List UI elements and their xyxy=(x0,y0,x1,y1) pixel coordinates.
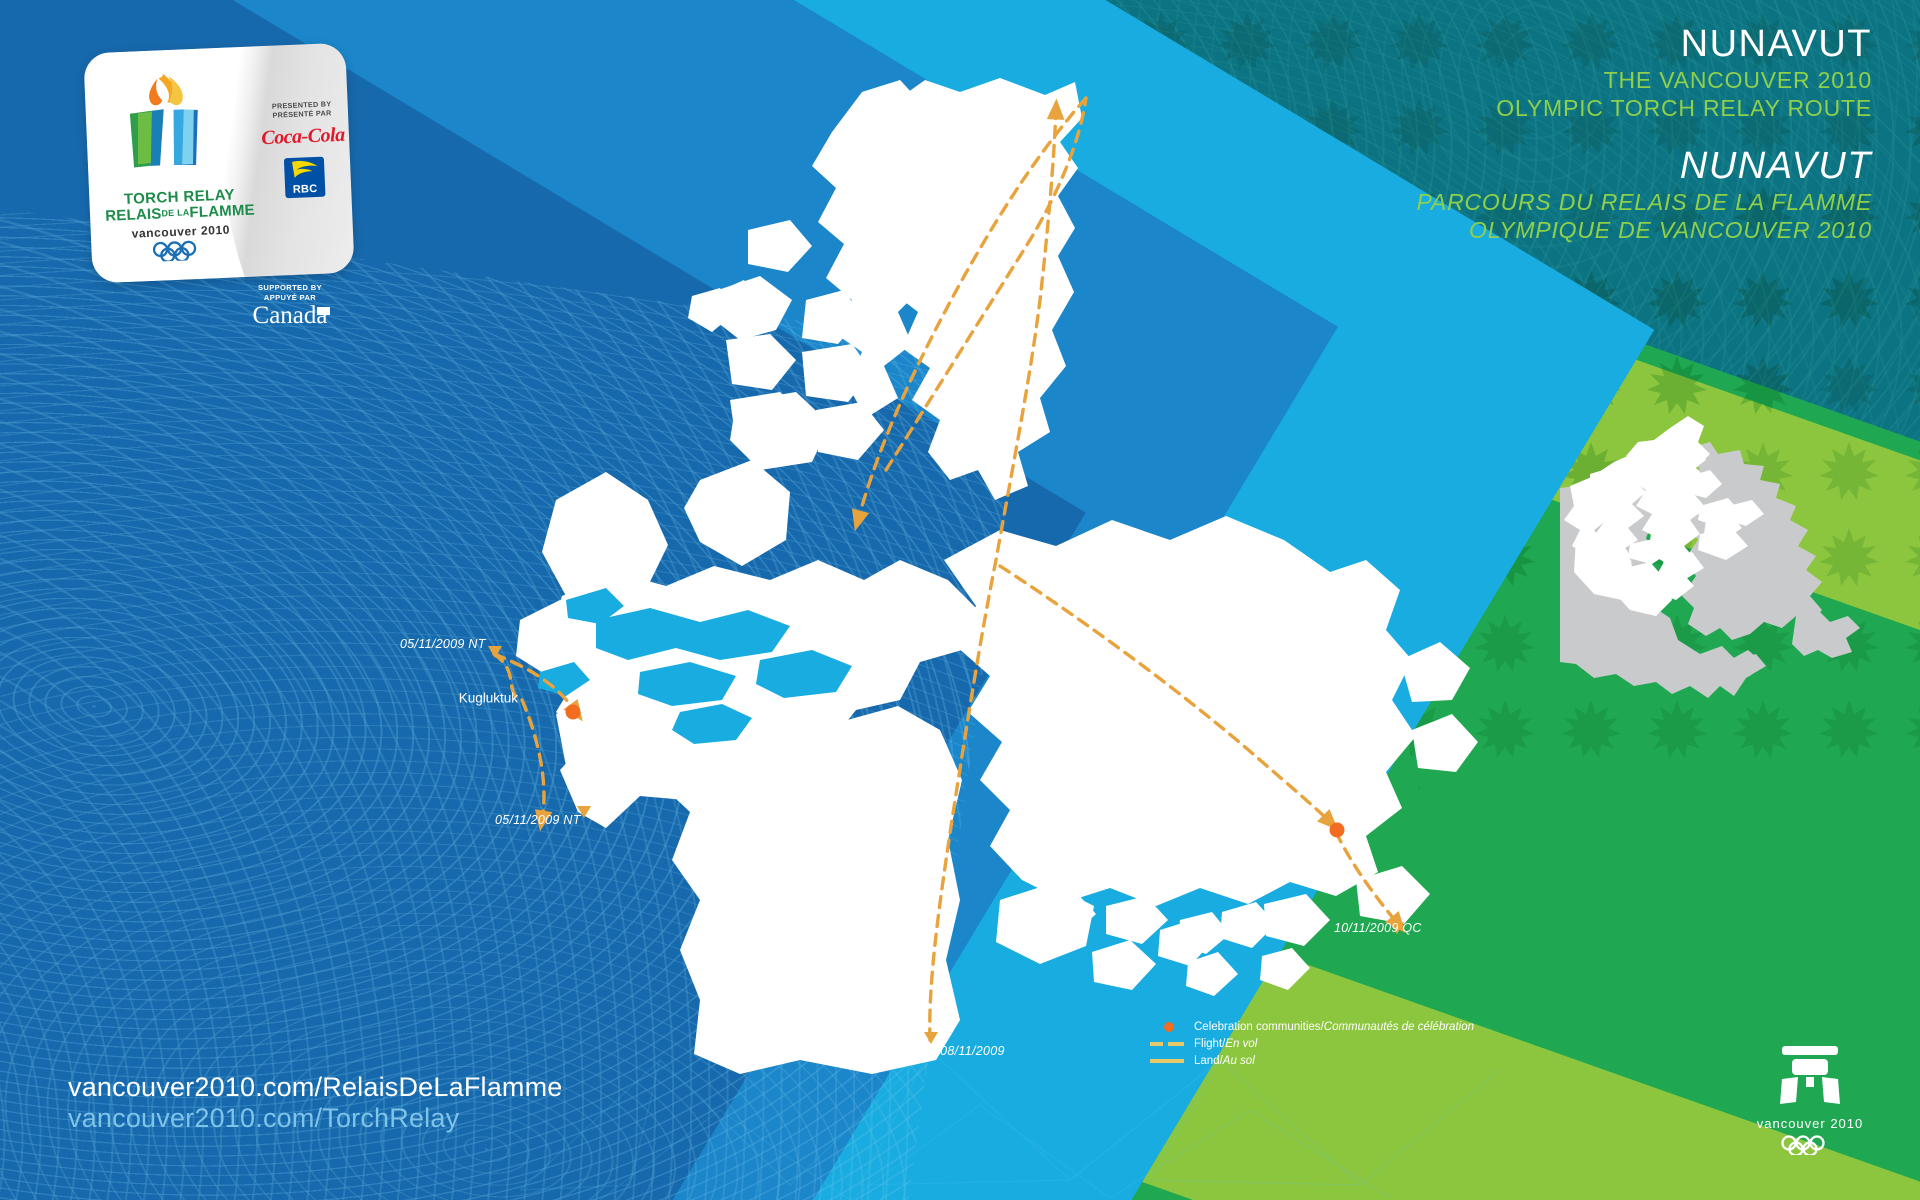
subtitle-en-line1: THE VANCOUVER 2010 xyxy=(1417,66,1873,94)
subtitle-en-line2: OLYMPIC TORCH RELAY ROUTE xyxy=(1417,94,1873,122)
city-label-kugluktuk: Kugluktuk xyxy=(459,691,518,706)
dashed-line-icon xyxy=(1150,1042,1184,1046)
torch-flame-icon xyxy=(110,68,227,193)
canada-text: Canada xyxy=(253,302,328,329)
legend-row-celebration: Celebration communities / Communautés de… xyxy=(1150,1018,1474,1035)
torch-relay-logo-card: TORCH RELAY RELAISDE LAFLAMME vancouver … xyxy=(83,43,354,284)
subtitle-fr-line1: PARCOURS DU RELAIS DE LA FLAMME xyxy=(1417,188,1873,216)
wordmark-dela: DE LA xyxy=(161,207,189,218)
celebration-dot-iqaluit xyxy=(1330,823,1345,838)
route-label-mb: MB 08/11/2009 xyxy=(917,1044,1005,1058)
route-label-nt-exit: 05/11/2009 NT xyxy=(495,813,581,827)
legend-label-land-fr: Au sol xyxy=(1223,1055,1255,1067)
footer-urls: vancouver2010.com/RelaisDeLaFlamme vanco… xyxy=(68,1072,563,1134)
legend-key-celebration xyxy=(1150,1022,1186,1032)
presenting-sponsor-block: PRESENTED BY PRÉSENTÉ PAR Coca-Cola RBC xyxy=(257,99,349,200)
wordmark-relais: RELAIS xyxy=(105,205,162,224)
celebration-dot-icon xyxy=(1164,1022,1174,1032)
games-mark-text: vancouver 2010 xyxy=(1750,1116,1870,1131)
legend-label-celebration-en: Celebration communities xyxy=(1194,1021,1321,1033)
inukshuk-icon xyxy=(1768,1046,1852,1108)
route-label-nt-entry: 05/11/2009 NT xyxy=(400,637,486,651)
map-legend: Celebration communities / Communautés de… xyxy=(1150,1018,1474,1069)
olympic-rings-footer-icon xyxy=(1779,1135,1841,1155)
north-arrow-icon xyxy=(566,512,600,564)
solid-line-icon xyxy=(1150,1059,1184,1063)
url-french[interactable]: vancouver2010.com/RelaisDeLaFlamme xyxy=(68,1072,563,1103)
supporting-sponsor-block: SUPPORTED BY APPUYÉ PAR Canada xyxy=(225,283,355,329)
wordmark-flamme: FLAMME xyxy=(189,202,255,222)
wordmark-games: vancouver 2010 xyxy=(101,221,261,242)
rbc-text: RBC xyxy=(285,183,325,197)
legend-label-celebration-fr: Communautés de célébration xyxy=(1324,1021,1474,1033)
celebration-dot-kugluktuk xyxy=(566,705,581,720)
supported-by-label-en: SUPPORTED BY xyxy=(225,283,355,293)
url-english[interactable]: vancouver2010.com/TorchRelay xyxy=(68,1103,563,1134)
page-title-fr: NUNAVUT xyxy=(1417,144,1873,188)
legend-key-flight xyxy=(1150,1042,1186,1046)
page-title-en: NUNAVUT xyxy=(1417,22,1873,66)
rbc-shield-icon xyxy=(284,157,325,185)
coca-cola-logo: Coca-Cola xyxy=(259,124,348,151)
legend-label-flight-fr: En vol xyxy=(1225,1038,1257,1050)
compass-north-indicator: N xyxy=(566,512,600,582)
rbc-logo: RBC xyxy=(284,157,326,199)
torch-relay-wordmark: TORCH RELAY RELAISDE LAFLAMME vancouver … xyxy=(99,186,262,269)
legend-key-land xyxy=(1150,1059,1186,1063)
canada-flag-icon xyxy=(317,307,330,315)
canada-inset-map xyxy=(1560,410,1920,710)
route-label-qc: 10/11/2009 QC xyxy=(1334,921,1422,935)
legend-label-land-en: Land xyxy=(1194,1055,1220,1067)
canada-wordmark: Canada xyxy=(253,303,328,329)
supported-by-label-fr: APPUYÉ PAR xyxy=(225,293,355,303)
city-label-iqaluit: Iqaluit xyxy=(1290,823,1326,838)
legend-row-flight: Flight / En vol xyxy=(1150,1035,1474,1052)
olympic-rings-icon xyxy=(150,239,213,262)
legend-label-flight-en: Flight xyxy=(1194,1038,1222,1050)
compass-north-letter: N xyxy=(566,560,600,584)
subtitle-fr-line2: OLYMPIQUE DE VANCOUVER 2010 xyxy=(1417,216,1873,244)
legend-row-land: Land / Au sol xyxy=(1150,1052,1474,1069)
poster-canvas: 05/11/2009 NT 05/11/2009 NT MB 08/11/200… xyxy=(0,0,1920,1200)
vancouver-2010-games-mark: vancouver 2010 xyxy=(1750,1046,1870,1160)
title-block: NUNAVUT THE VANCOUVER 2010 OLYMPIC TORCH… xyxy=(1417,22,1873,244)
